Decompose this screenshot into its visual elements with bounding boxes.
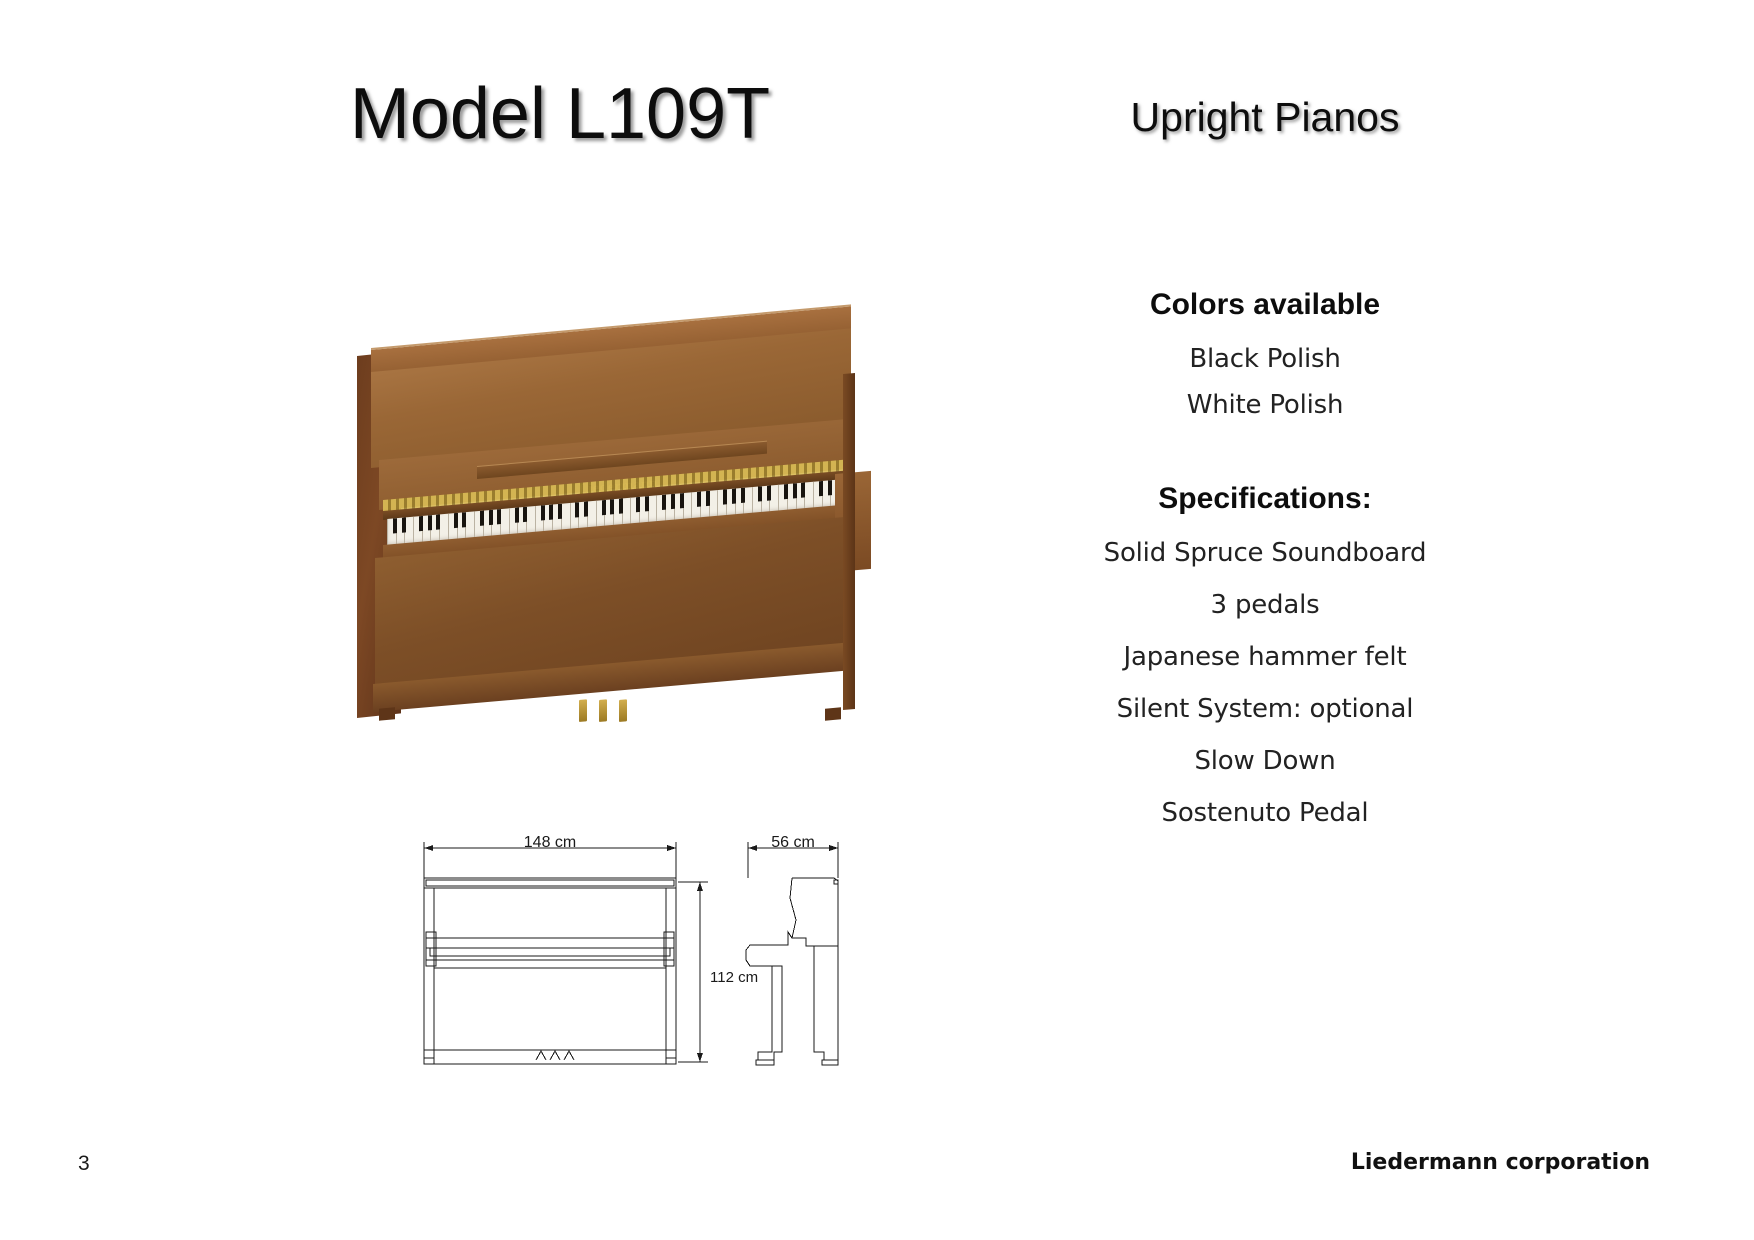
dimension-drawing-svg: 148 cm 56 cm 112 cm (400, 820, 860, 1070)
front-view-cabinet (424, 878, 676, 1064)
side-view-foot-front (756, 1060, 774, 1065)
height-dimension-label: 112 cm (710, 969, 758, 986)
page-title: Model L109T (140, 78, 980, 150)
side-view-foot-back (822, 1060, 838, 1065)
front-view-pedal-3 (564, 1051, 574, 1060)
side-view-top-curve (790, 878, 796, 938)
piano-pedal-1 (579, 699, 587, 722)
front-view-pedal-2 (550, 1051, 560, 1060)
right-info-column: Colors available Black Polish White Poli… (1010, 288, 1520, 850)
colors-available-heading: Colors available (1010, 288, 1520, 322)
color-option-white-polish: White Polish (1010, 390, 1520, 420)
spec-item-slow-down: Slow Down (1010, 746, 1520, 776)
spec-item-soundboard: Solid Spruce Soundboard (1010, 538, 1520, 568)
piano-caster-left (379, 707, 395, 720)
product-photo-upright-piano: Liedermann (357, 348, 887, 738)
front-view-keyboard-band (430, 948, 670, 956)
spec-item-pedals: 3 pedals (1010, 590, 1520, 620)
specifications-heading: Specifications: (1010, 482, 1520, 516)
spec-item-sostenuto-pedal: Sostenuto Pedal (1010, 798, 1520, 828)
dimension-drawing: 148 cm 56 cm 112 cm (400, 820, 860, 1070)
front-view-pedal-1 (536, 1051, 546, 1060)
depth-dimension-label: 56 cm (771, 834, 815, 851)
front-view-fallboard (426, 938, 674, 948)
color-option-black-polish: Black Polish (1010, 344, 1520, 374)
front-view-foot-left (424, 1058, 434, 1064)
spec-item-hammer-felt: Japanese hammer felt (1010, 642, 1520, 672)
piano-right-edge (843, 373, 855, 710)
category-title: Upright Pianos (1010, 97, 1520, 138)
spec-item-silent-system: Silent System: optional (1010, 694, 1520, 724)
front-view-foot-right (666, 1058, 676, 1064)
width-dimension-label: 148 cm (524, 834, 576, 851)
page-number: 3 (78, 1152, 90, 1176)
footer-brand-name: Liedermann corporation (1351, 1150, 1650, 1175)
front-view-lower-panel (434, 968, 666, 1050)
piano-caster-right (825, 707, 841, 720)
piano-pedal-2 (599, 699, 607, 722)
piano-pedal-3 (619, 699, 627, 722)
